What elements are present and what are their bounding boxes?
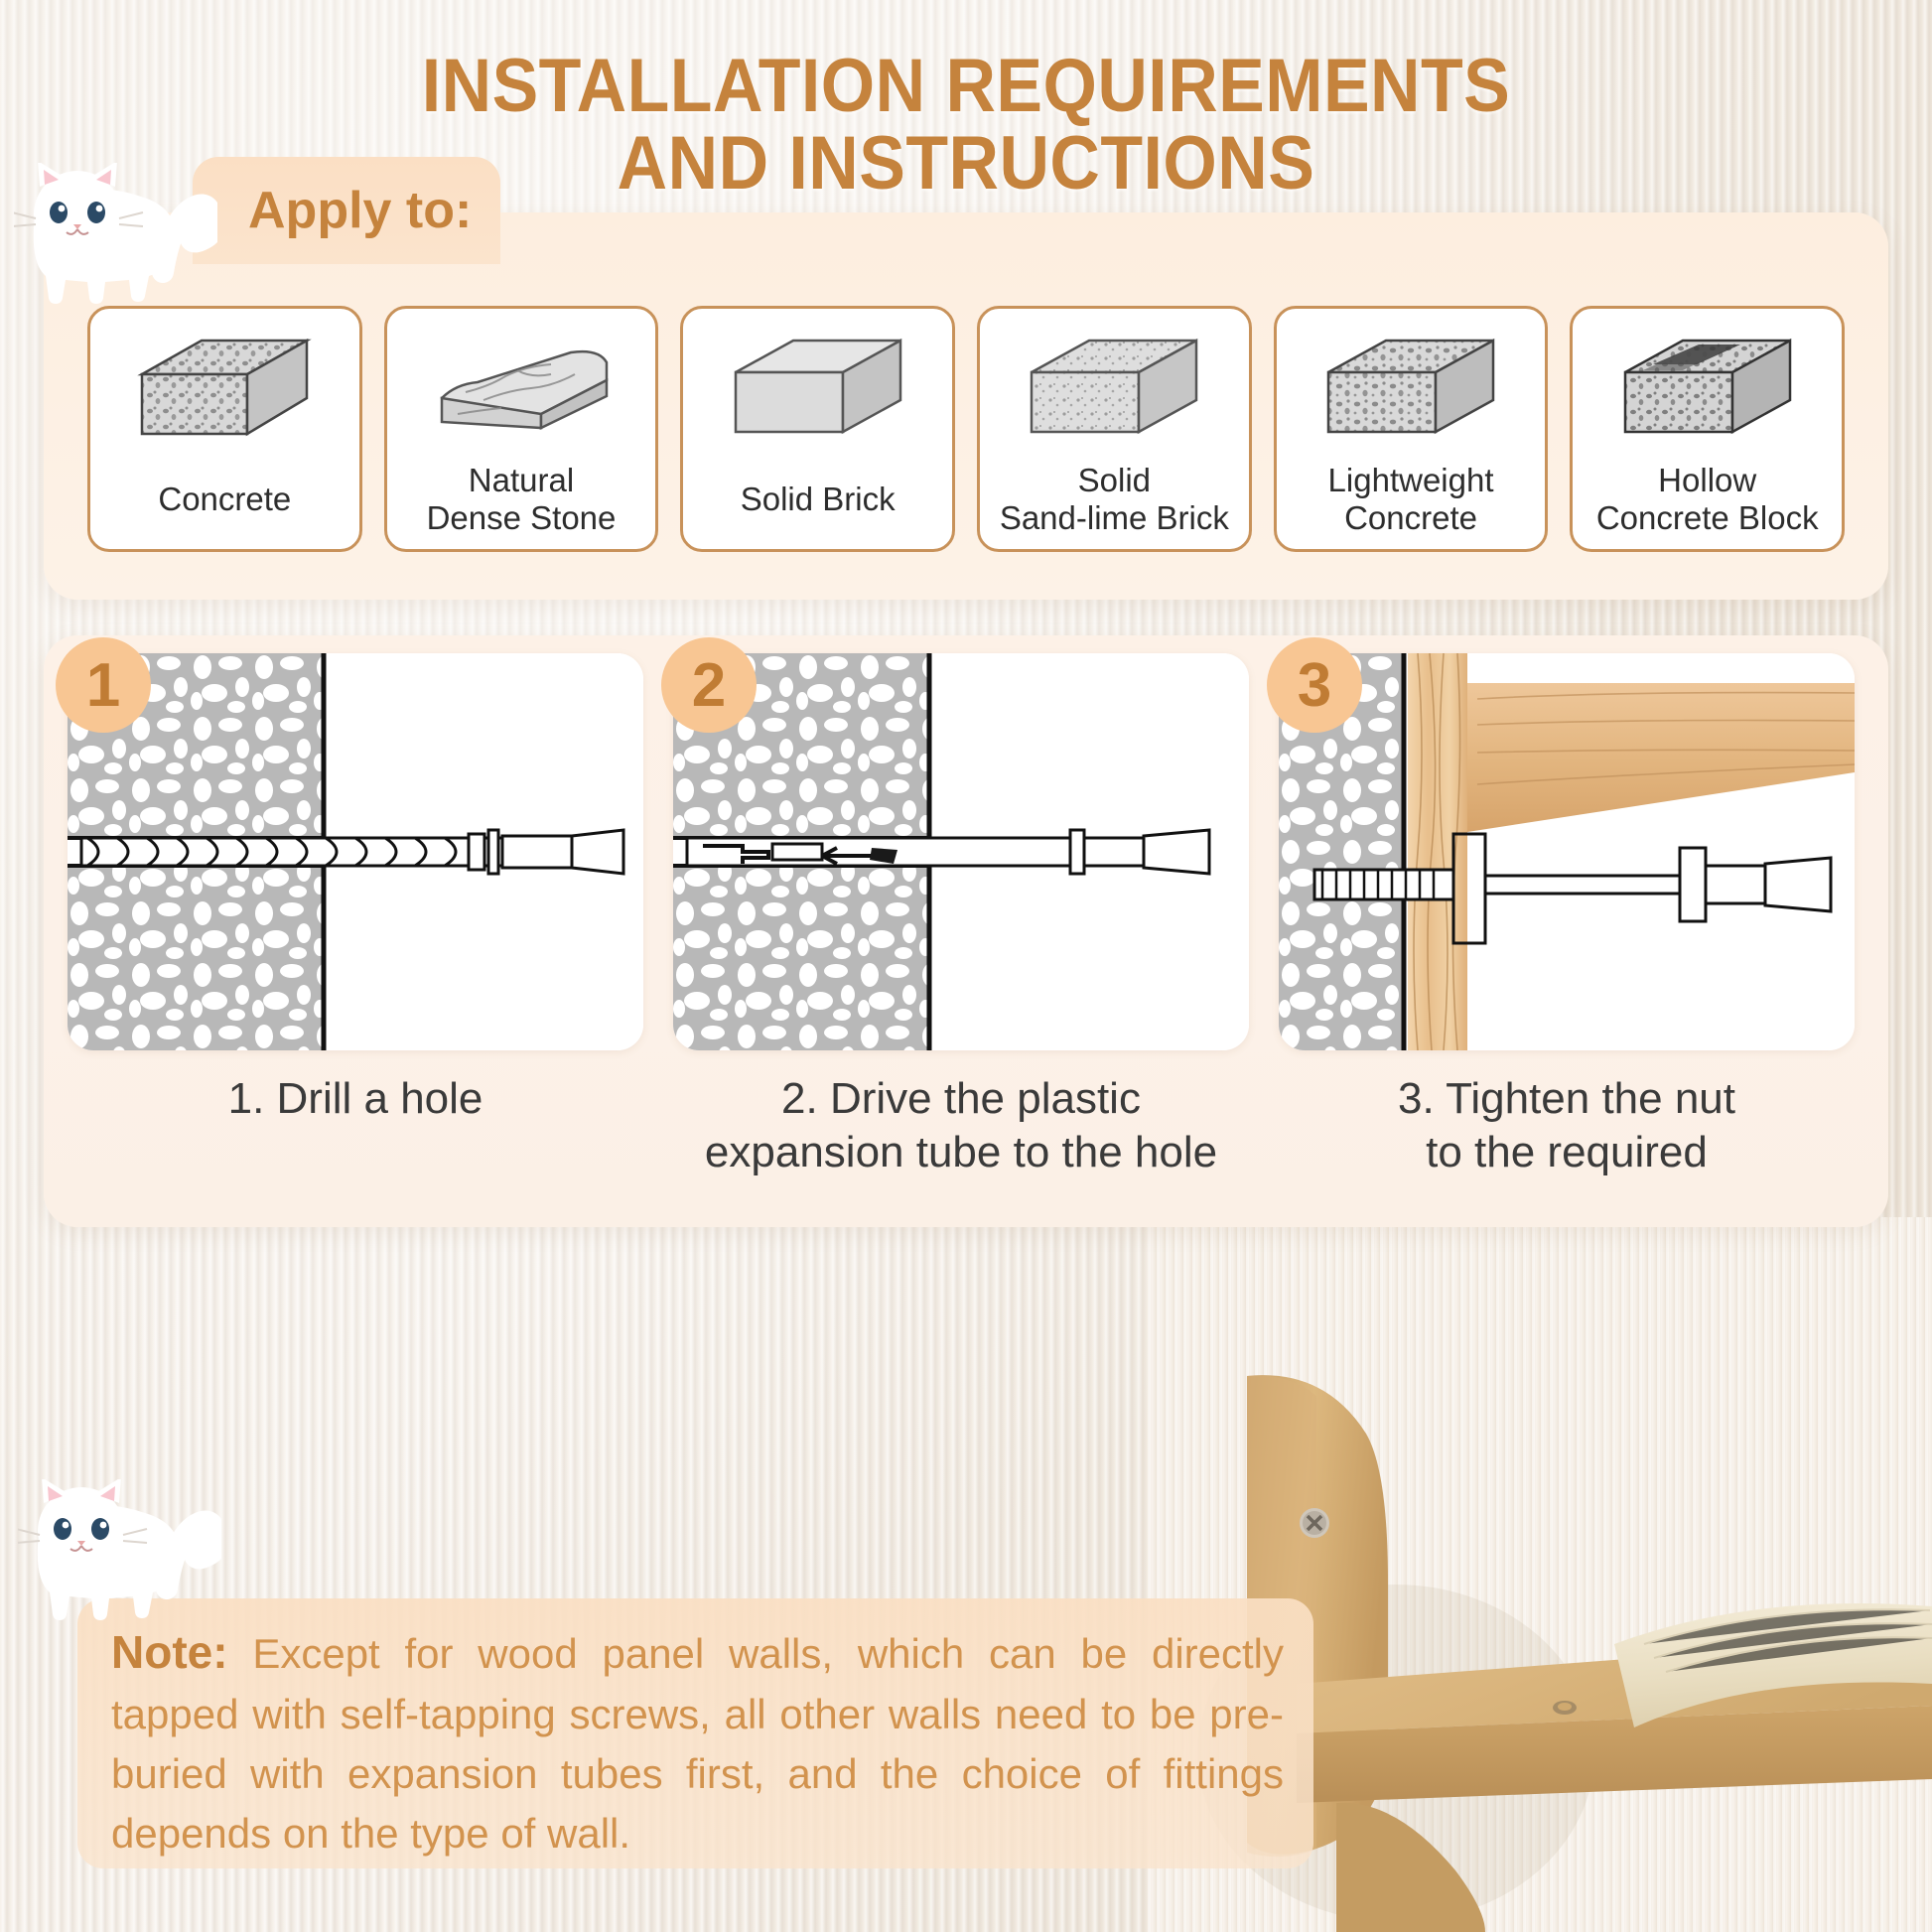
material-card-natural-dense-stone[interactable]: Natural Dense Stone bbox=[384, 306, 659, 552]
hollow-concrete-block-icon bbox=[1613, 323, 1802, 450]
page-title: INSTALLATION REQUIREMENTS AND INSTRUCTIO… bbox=[77, 48, 1855, 204]
title-line-1: INSTALLATION REQUIREMENTS bbox=[77, 48, 1855, 125]
step-1: 1 bbox=[68, 653, 643, 1178]
step-2: 2 bbox=[673, 653, 1249, 1178]
natural-stone-icon bbox=[422, 323, 621, 450]
cat-mascot-top bbox=[14, 163, 217, 307]
material-card-hollow-concrete-block[interactable]: Hollow Concrete Block bbox=[1570, 306, 1845, 552]
installation-steps-panel: 1 bbox=[44, 635, 1888, 1227]
step-number-badge: 1 bbox=[56, 637, 151, 733]
step-3: 3 bbox=[1279, 653, 1855, 1178]
lightweight-concrete-icon bbox=[1316, 323, 1505, 450]
drill-bit-icon bbox=[68, 653, 643, 1050]
material-card-concrete[interactable]: Concrete bbox=[87, 306, 362, 552]
note-label: Note: bbox=[111, 1626, 228, 1678]
step-caption: 2. Drive the plastic expansion tube to t… bbox=[673, 1072, 1249, 1178]
step-2-illustration bbox=[673, 653, 1249, 1050]
sand-lime-brick-icon bbox=[1020, 323, 1208, 450]
solid-brick-icon bbox=[724, 323, 912, 450]
screwdriver-icon bbox=[1279, 653, 1855, 1050]
material-label: Solid Sand-lime Brick bbox=[994, 450, 1235, 549]
material-label: Lightweight Concrete bbox=[1322, 450, 1500, 549]
material-card-solid-brick[interactable]: Solid Brick bbox=[680, 306, 955, 552]
step-caption: 3. Tighten the nut to the required bbox=[1279, 1072, 1855, 1178]
material-label: Concrete bbox=[152, 450, 297, 549]
step-3-illustration bbox=[1279, 653, 1855, 1050]
apply-to-panel: Apply to: Concrete bbox=[44, 212, 1888, 600]
step-number-badge: 3 bbox=[1267, 637, 1362, 733]
expansion-tube-icon bbox=[673, 653, 1249, 1050]
note-panel: Note: Except for wood panel walls, which… bbox=[77, 1598, 1313, 1868]
step-caption: 1. Drill a hole bbox=[68, 1072, 643, 1126]
concrete-block-icon bbox=[130, 323, 319, 450]
step-1-illustration bbox=[68, 653, 643, 1050]
cat-mascot-bottom bbox=[18, 1479, 221, 1623]
note-body: Except for wood panel walls, which can b… bbox=[111, 1630, 1284, 1857]
material-card-list: Concrete Natural Dense Stone bbox=[87, 306, 1845, 552]
material-label: Natural Dense Stone bbox=[421, 450, 622, 549]
step-list: 1 bbox=[68, 653, 1855, 1178]
step-number-badge: 2 bbox=[661, 637, 757, 733]
material-label: Hollow Concrete Block bbox=[1590, 450, 1825, 549]
material-card-solid-sand-lime-brick[interactable]: Solid Sand-lime Brick bbox=[977, 306, 1252, 552]
title-line-2: AND INSTRUCTIONS bbox=[77, 125, 1855, 203]
material-card-lightweight-concrete[interactable]: Lightweight Concrete bbox=[1274, 306, 1549, 552]
material-label: Solid Brick bbox=[735, 450, 901, 549]
note-text: Note: Except for wood panel walls, which… bbox=[111, 1620, 1284, 1863]
